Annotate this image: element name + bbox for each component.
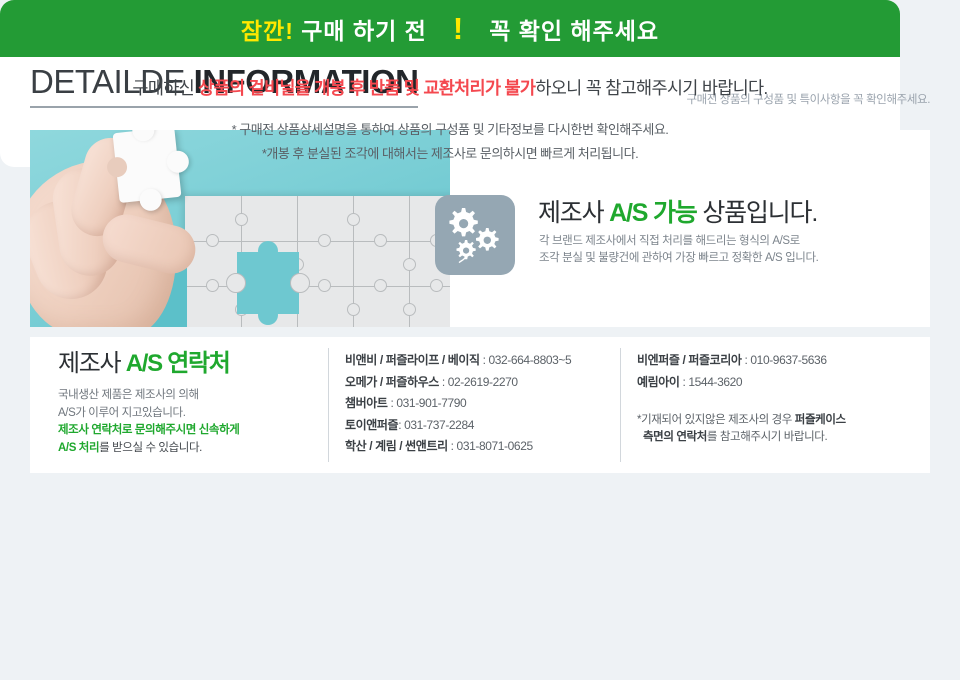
ct-heading-pre: 제조사: [58, 350, 126, 377]
contact-phone: 031-901-7790: [396, 396, 466, 410]
contact-brands: 오메가 / 퍼즐하우스: [345, 375, 439, 389]
as-sub-line-1: 각 브랜드 제조사에서 직접 처리를 해드리는 형식의 A/S로: [539, 233, 818, 250]
contact-column-left: 비앤비 / 퍼즐라이프 / 베이직 : 032-664-8803~5 오메가 /…: [345, 350, 615, 458]
ct-desc-line-4-rest: 를 받으실 수 있습니다.: [99, 442, 202, 454]
warning-main-pre: 구매하신: [132, 78, 198, 98]
as-sub-line-2: 조각 분실 및 불량건에 관하여 가장 빠르고 정확한 A/S 입니다.: [539, 250, 818, 267]
contact-sep: :: [439, 375, 448, 389]
warning-banner-right: 꼭 확인 해주세요: [489, 12, 659, 46]
contact-row: 토이앤퍼즐: 031-737-2284: [345, 415, 615, 437]
contact-footnote: *기재되어 있지않은 제조사의 경우 퍼즐케이스 측면의 연락처를 참고해주시기…: [637, 412, 927, 446]
warning-banner: 잠깐! 구매 하기 전 ! 꼭 확인 해주세요: [0, 0, 900, 57]
contact-sep: :: [448, 439, 457, 453]
exclamation-icon: !: [453, 14, 463, 44]
contact-column-right: 비엔퍼즐 / 퍼즐코리아 : 010-9637-5636 예림아이 : 1544…: [637, 350, 927, 446]
contact-footnote-bold-1: 퍼즐케이스: [795, 414, 846, 426]
ct-desc-line-4: A/S 처리를 받으실 수 있습니다.: [58, 440, 328, 458]
contact-footnote-bold-2: 측면의 연락처: [643, 431, 707, 443]
contact-divider-1: [328, 348, 329, 462]
warning-main-post: 하오니 꼭 참고해주시기 바랍니다.: [535, 78, 767, 98]
as-contact-description: 국내생산 제품은 제조사의 의해 A/S가 이루어 지고있습니다. 제조사 연락…: [58, 387, 328, 457]
contact-row: 비엔퍼즐 / 퍼즐코리아 : 010-9637-5636: [637, 350, 927, 372]
contact-brands: 학산 / 계림 / 썬앤트리: [345, 439, 448, 453]
warning-banner-white-left: 구매 하기 전: [294, 18, 427, 44]
as-heading-pre: 제조사: [538, 199, 609, 227]
warning-footnote-line-1: * 구매전 상품상세설명을 통하여 상품의 구성품 및 기타정보를 다시한번 확…: [0, 118, 900, 142]
contact-phone: 02-2619-2270: [448, 375, 518, 389]
warning-footnote-line-2: *개봉 후 분실된 조각에 대해서는 제조사로 문의하시면 빠르게 처리됩니다.: [0, 142, 900, 166]
product-detail-info-page: DETAILDE INFORMATION 구매전 상품의 구성품 및 특이사항을…: [0, 0, 960, 680]
warning-footnotes: * 구매전 상품상세설명을 통하여 상품의 구성품 및 기타정보를 다시한번 확…: [0, 118, 900, 166]
ct-desc-line-4-accent: A/S 처리: [58, 442, 99, 454]
contact-phone: 031-737-2284: [404, 418, 474, 432]
warning-banner-left: 잠깐! 구매 하기 전: [241, 12, 427, 46]
warning-main-red: 상품의 겉비닐을 개봉 후 반품 및 교환처리가 불가: [198, 78, 535, 98]
contact-phone: 031-8071-0625: [457, 439, 533, 453]
gears-icon: [435, 195, 515, 275]
as-contact-card: 제조사 A/S 연락처 국내생산 제품은 제조사의 의해 A/S가 이루어 지고…: [30, 337, 930, 473]
as-available-heading: 제조사 A/S 가능 상품입니다.: [538, 193, 817, 229]
contact-brands: 비앤비 / 퍼즐라이프 / 베이직: [345, 353, 480, 367]
contact-phone: 1544-3620: [688, 375, 742, 389]
warning-main-text: 구매하신 상품의 겉비닐을 개봉 후 반품 및 교환처리가 불가하오니 꼭 참고…: [0, 75, 900, 100]
contact-row: 비앤비 / 퍼즐라이프 / 베이직 : 032-664-8803~5: [345, 350, 615, 372]
ct-desc-line-1: 국내생산 제품은 제조사의 의해: [58, 387, 328, 405]
warning-banner-yellow: 잠깐!: [241, 18, 294, 44]
contact-footnote-line-1: *기재되어 있지않은 제조사의 경우 퍼즐케이스: [637, 412, 927, 429]
contact-phone: 032-664-8803~5: [488, 353, 571, 367]
contact-row: 예림아이 : 1544-3620: [637, 372, 927, 394]
contact-footnote-line-2: 측면의 연락처를 참고해주시기 바랍니다.: [637, 429, 827, 446]
as-heading-accent: A/S 가능: [609, 199, 696, 227]
contact-brands: 챔버아트: [345, 396, 388, 410]
ct-heading-accent: A/S 연락처: [126, 350, 230, 377]
warning-body: 구매하신 상품의 겉비닐을 개봉 후 반품 및 교환처리가 불가하오니 꼭 참고…: [0, 57, 900, 166]
as-heading-post: 상품입니다.: [697, 199, 818, 227]
ct-desc-line-2: A/S가 이루어 지고있습니다.: [58, 405, 328, 423]
puzzle-board-graphic: [185, 196, 450, 327]
contact-brands: 예림아이: [637, 375, 680, 389]
contact-footnote-pre: *기재되어 있지않은 제조사의 경우: [637, 414, 795, 426]
as-contact-heading: 제조사 A/S 연락처: [58, 347, 328, 381]
contact-brands: 토이앤퍼즐: [345, 418, 398, 432]
as-contact-intro: 제조사 A/S 연락처 국내생산 제품은 제조사의 의해 A/S가 이루어 지고…: [58, 347, 328, 457]
contact-footnote-rest: 를 참고해주시기 바랍니다.: [707, 431, 827, 443]
puzzle-missing-slot: [237, 252, 299, 314]
contact-row: 오메가 / 퍼즐하우스 : 02-2619-2270: [345, 372, 615, 394]
contact-row: 학산 / 계림 / 썬앤트리 : 031-8071-0625: [345, 436, 615, 458]
contact-divider-2: [620, 348, 621, 462]
purchase-warning-card: 잠깐! 구매 하기 전 ! 꼭 확인 해주세요 구매하신 상품의 겉비닐을 개봉…: [0, 0, 900, 167]
as-available-subtext: 각 브랜드 제조사에서 직접 처리를 해드리는 형식의 A/S로 조각 분실 및…: [539, 233, 818, 267]
contact-brands: 비엔퍼즐 / 퍼즐코리아: [637, 353, 742, 367]
contact-row: 챔버아트 : 031-901-7790: [345, 393, 615, 415]
contact-phone: 010-9637-5636: [750, 353, 826, 367]
ct-desc-line-3: 제조사 연락처로 문의해주시면 신속하게: [58, 422, 328, 440]
